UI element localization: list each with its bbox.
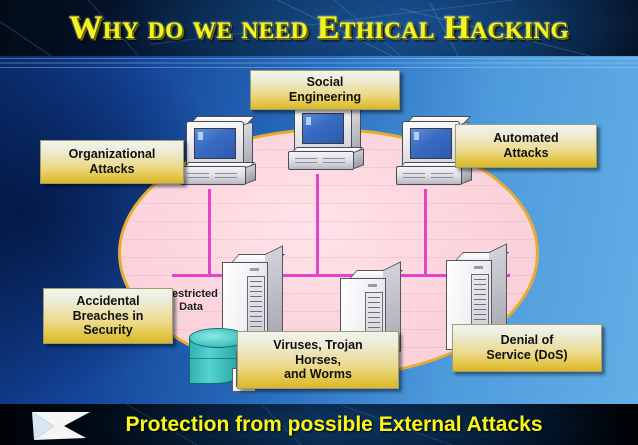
label-social-engineering[interactable]: Social Engineering [250,70,400,110]
workstation-left[interactable] [180,121,256,193]
workstation-center[interactable] [288,106,364,178]
server-led [474,266,483,269]
desktop-case-icon [180,166,246,185]
label-denial-of-service[interactable]: Denial of Service (DoS) [452,324,602,372]
network-drop-line [316,174,319,277]
desktop-case-icon [288,151,354,170]
stage-highlight-line [0,62,638,64]
label-organizational-attacks[interactable]: Organizational Attacks [40,140,184,184]
monitor-screen [194,128,236,159]
slide-canvas: Why do we need Ethical Hacking [0,0,638,445]
label-viruses-trojans[interactable]: Viruses, Trojan Horses, and Worms [237,331,399,389]
monitor-screen [410,128,452,159]
stage-highlight-line [0,58,638,59]
label-accidental-breaches[interactable]: Accidental Breaches in Security [43,288,173,344]
network-drop-line [208,189,211,277]
bottom-banner: Protection from possible External Attack… [0,404,638,445]
diagram-stage: Restricted Data Organizational Attacks S… [0,56,638,404]
stage-highlight-line [0,67,638,68]
server-led [250,268,259,271]
page-title: Why do we need Ethical Hacking [0,0,638,56]
banner-text: Protection from possible External Attack… [0,404,638,445]
monitor-screen [302,113,344,144]
desktop-case-icon [396,166,462,185]
label-automated-attacks[interactable]: Automated Attacks [455,124,597,168]
network-drop-line [424,189,427,277]
title-bar: Why do we need Ethical Hacking [0,0,638,56]
server-led [368,284,377,287]
